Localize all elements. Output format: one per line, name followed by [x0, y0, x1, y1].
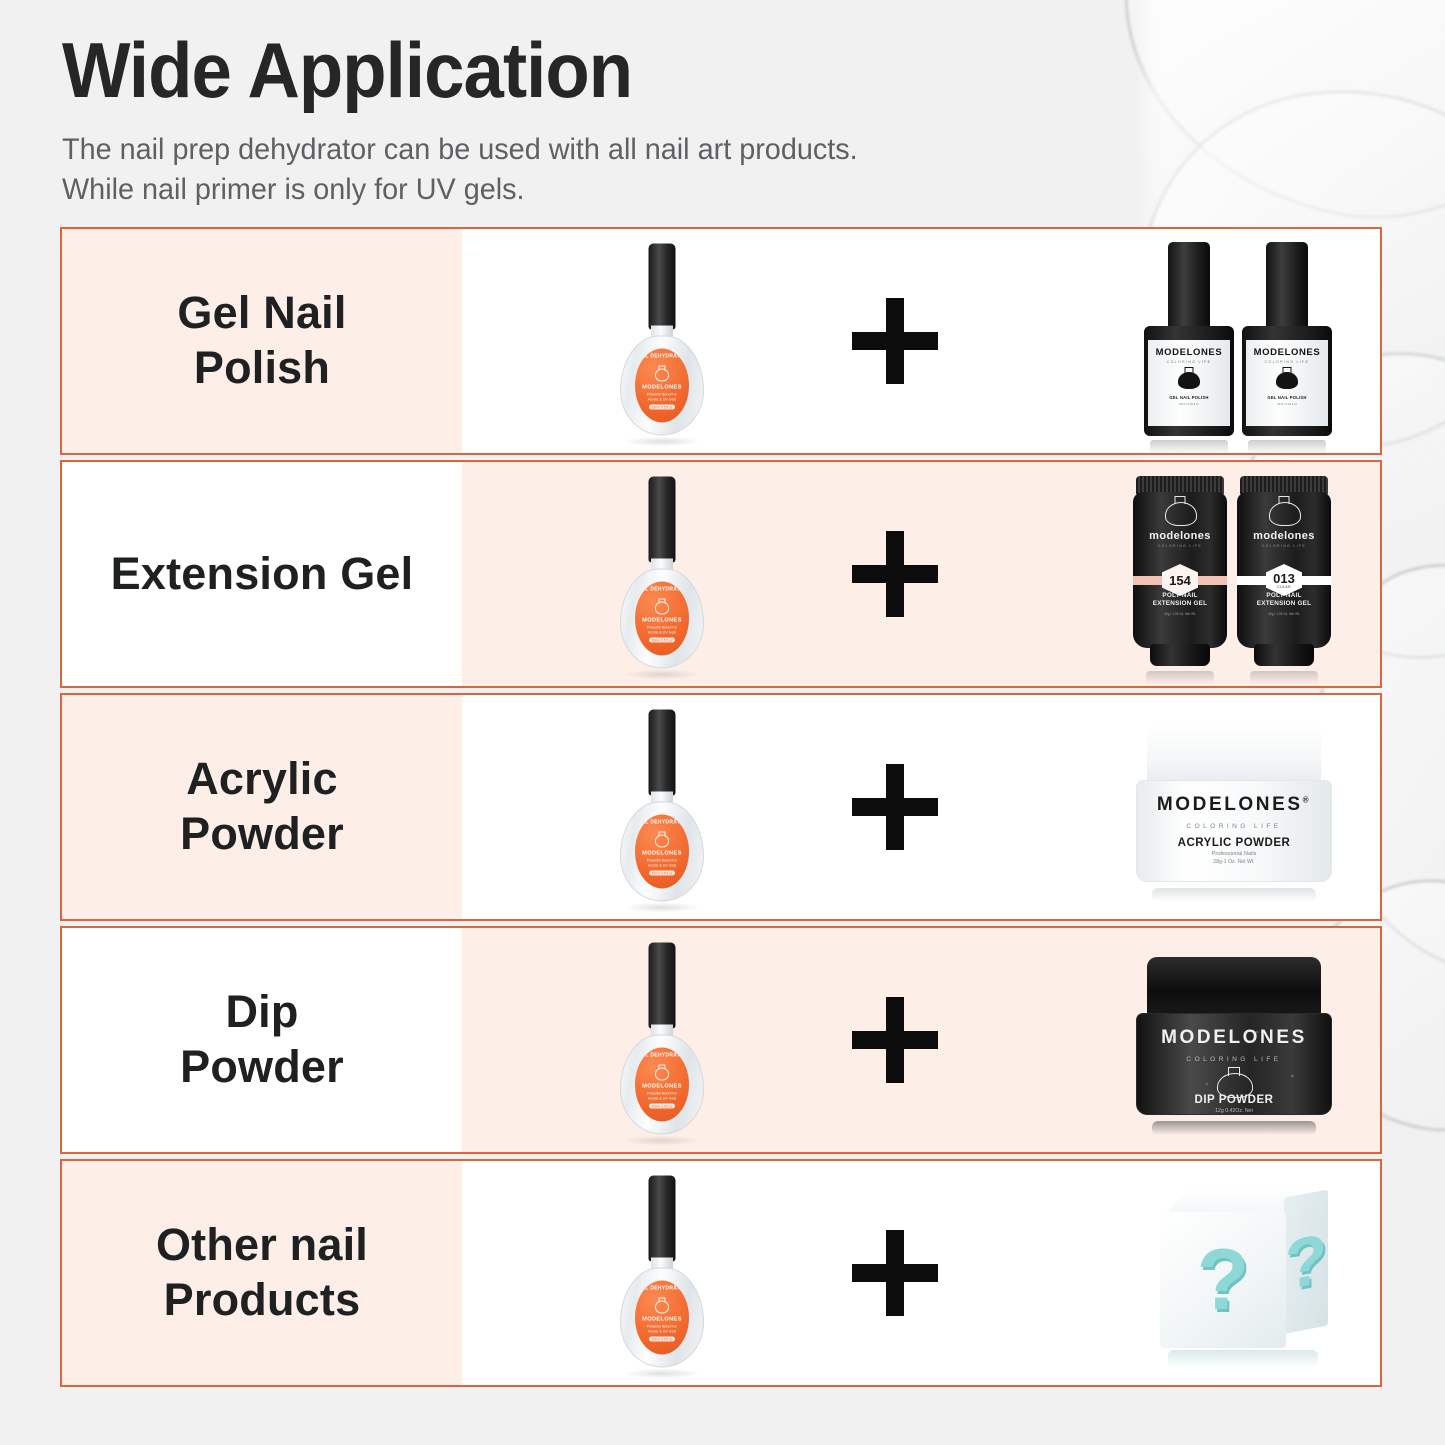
- bee-logo-icon: [655, 1300, 669, 1313]
- registered-mark: ®: [1303, 796, 1312, 805]
- bee-logo-icon: [655, 601, 669, 614]
- gel-polish-bottle: MODELONES COLORING LIFE GEL NAIL POLISH …: [1242, 242, 1332, 440]
- table-row: Other nail Products NAIL DEHYDRATOR MODE…: [60, 1159, 1382, 1387]
- gel-polish-bottle: MODELONES COLORING LIFE GEL NAIL POLISH …: [1144, 242, 1234, 440]
- bottle-label: NAIL DEHYDRATOR MODELONES Powerful Bond …: [635, 1048, 689, 1122]
- bottle-shadow: [624, 903, 700, 913]
- dip-powder-group: MODELONES COLORING LIFE DIP POWDER 12g 0…: [1136, 957, 1332, 1123]
- question-mark-front: ?: [1197, 1237, 1250, 1323]
- label-tagline: COLORING LIFE: [1265, 360, 1310, 364]
- badge-shade: CLEAR: [1277, 585, 1291, 589]
- tube-brand: modelones: [1236, 530, 1332, 542]
- table-row: Acrylic Powder NAIL DEHYDRATOR MODELONES…: [60, 693, 1382, 921]
- row-products-cell: NAIL DEHYDRATOR MODELONES Powerful Bond …: [462, 695, 1380, 919]
- page-title: Wide Application: [62, 28, 1085, 112]
- plus-icon: [852, 764, 938, 850]
- label-volume: 15ml / 0.5 fl.oz: [649, 1104, 676, 1109]
- label-subline: Powerful Bond ForAcrylic & UV Gels: [647, 1324, 677, 1334]
- label-volume: 15ml / 0.5 fl.oz: [649, 1337, 676, 1342]
- bottle-cap: [649, 477, 676, 563]
- jar-product-name: ACRYLIC POWDER: [1178, 837, 1291, 849]
- bottle-body: NAIL DEHYDRATOR MODELONES Powerful Bond …: [620, 1268, 704, 1368]
- row-label-cell: Dip Powder: [62, 928, 462, 1152]
- label-volume: 15ml / 0.5 fl.oz: [649, 405, 676, 410]
- table-row: Extension Gel NAIL DEHYDRATOR MODELONES …: [60, 460, 1382, 688]
- subtitle-line-1: The nail prep dehydrator can be used wit…: [62, 130, 1118, 170]
- nail-dehydrator-bottle: NAIL DEHYDRATOR MODELONES Powerful Bond …: [602, 710, 722, 905]
- table-row: Gel Nail Polish NAIL DEHYDRATOR MODELONE…: [60, 227, 1382, 455]
- header: Wide Application The nail prep dehydrato…: [62, 28, 1162, 210]
- label-volume: 15ml / 0.5 fl.oz: [649, 871, 676, 876]
- bee-logo-icon: [1165, 498, 1195, 524]
- plus-icon: [852, 1230, 938, 1316]
- question-mark-side: ?: [1285, 1223, 1328, 1301]
- label-arc-text: NAIL DEHYDRATOR: [635, 354, 689, 360]
- plus-icon: [852, 531, 938, 617]
- extension-gel-tube: modelones COLORING LIFE 013 CLEAR POLY N…: [1236, 476, 1332, 672]
- dip-powder-jar: MODELONES COLORING LIFE DIP POWDER 12g 0…: [1136, 957, 1332, 1123]
- cube-side-face: ?: [1284, 1189, 1328, 1334]
- bee-logo-icon: [1217, 1068, 1251, 1087]
- row-products-cell: NAIL DEHYDRATOR MODELONES Powerful Bond …: [462, 1161, 1380, 1385]
- application-table: Gel Nail Polish NAIL DEHYDRATOR MODELONE…: [60, 227, 1382, 1392]
- label-volume: 15ml / 0.5 fl.oz: [649, 638, 676, 643]
- row-products-cell: NAIL DEHYDRATOR MODELONES Powerful Bond …: [462, 462, 1380, 686]
- label-product-name: GEL NAIL POLISH: [1267, 395, 1306, 400]
- bottle-reflection: [1150, 440, 1228, 454]
- label-subline: Powerful Bond ForAcrylic & UV Gels: [647, 858, 677, 868]
- label-product-name: GEL NAIL POLISH: [1169, 395, 1208, 400]
- bee-logo-icon: [1178, 369, 1200, 389]
- badge-number: 154: [1169, 574, 1191, 587]
- plus-icon: [852, 298, 938, 384]
- row-label-line-1: Acrylic: [180, 752, 344, 807]
- bottle-cap: [1168, 242, 1210, 332]
- question-mark-cube-icon: ? ?: [1154, 1184, 1332, 1362]
- cube-front-face: ?: [1160, 1212, 1286, 1348]
- bottle-cap: [1266, 242, 1308, 332]
- bottle-shadow: [624, 670, 700, 680]
- bottle-label: NAIL DEHYDRATOR MODELONES Powerful Bond …: [635, 815, 689, 889]
- bottle-cap: [649, 943, 676, 1029]
- label-subline: Powerful Bond ForAcrylic & UV Gels: [647, 1091, 677, 1101]
- tube-fine-print: 30g / 1.05 Oz. Net Wt.: [1236, 612, 1332, 617]
- bottle-shadow: [624, 1136, 700, 1146]
- bee-logo-icon: [1269, 498, 1299, 524]
- label-arc-text: NAIL DEHYDRATOR: [635, 1053, 689, 1059]
- jar-brand: MODELONES: [1161, 1027, 1307, 1049]
- label-arc-text: NAIL DEHYDRATOR: [635, 587, 689, 593]
- table-row: Dip Powder NAIL DEHYDRATOR MODELONES Pow…: [60, 926, 1382, 1154]
- row-label-cell: Extension Gel: [62, 462, 462, 686]
- row-label-line-2: Powder: [180, 1040, 344, 1095]
- bee-logo-icon: [655, 1067, 669, 1080]
- label-brand: MODELONES: [642, 1083, 682, 1089]
- bottle-label: NAIL DEHYDRATOR MODELONES Powerful Bond …: [635, 349, 689, 423]
- bottle-label: NAIL DEHYDRATOR MODELONES Powerful Bond …: [635, 1281, 689, 1355]
- tube-tagline: COLORING LIFE: [1132, 544, 1228, 548]
- bottle-cap: [649, 244, 676, 330]
- nail-dehydrator-bottle: NAIL DEHYDRATOR MODELONES Powerful Bond …: [602, 1176, 722, 1371]
- row-label-line-1: Other nail: [156, 1218, 368, 1273]
- label-tagline: COLORING LIFE: [1167, 360, 1212, 364]
- row-label-line-1: Extension Gel: [111, 547, 414, 602]
- jar-tagline: COLORING LIFE: [1186, 823, 1281, 830]
- jar-base: MODELONES COLORING LIFE DIP POWDER 12g 0…: [1136, 1013, 1332, 1115]
- bottle-body: NAIL DEHYDRATOR MODELONES Powerful Bond …: [620, 802, 704, 902]
- extension-gel-group: modelones COLORING LIFE 154 POLY NAILEXT…: [1132, 476, 1332, 672]
- tube-cap-end: [1254, 644, 1314, 666]
- badge-number: 013: [1273, 572, 1295, 585]
- row-label: Gel Nail Polish: [177, 286, 346, 396]
- subtitle-line-2: While nail primer is only for UV gels.: [62, 170, 1118, 210]
- jar-base: MODELONES® COLORING LIFE ACRYLIC POWDER …: [1136, 780, 1332, 882]
- other-products-group: ? ?: [1154, 1184, 1332, 1362]
- tube-product-name: POLY NAILEXTENSION GEL: [1132, 592, 1228, 609]
- jar-lid: [1147, 957, 1321, 1019]
- jar-brand-text: MODELONES: [1157, 794, 1303, 815]
- tube-brand: modelones: [1132, 530, 1228, 542]
- bottle-body: NAIL DEHYDRATOR MODELONES Powerful Bond …: [620, 569, 704, 669]
- label-arc-text: NAIL DEHYDRATOR: [635, 1286, 689, 1292]
- row-label-cell: Other nail Products: [62, 1161, 462, 1385]
- label-brand: MODELONES: [1254, 347, 1321, 358]
- bee-logo-icon: [655, 368, 669, 381]
- tube-reflection: [1146, 671, 1214, 684]
- label-subline: Powerful Bond ForAcrylic & UV Gels: [647, 625, 677, 635]
- row-label: Other nail Products: [156, 1218, 368, 1328]
- tube-cap-end: [1150, 644, 1210, 666]
- bee-logo-icon: [1276, 369, 1298, 389]
- label-arc-text: NAIL DEHYDRATOR: [635, 820, 689, 826]
- bottle-cap: [649, 1176, 676, 1262]
- jar-sub-name: Professional Nails: [1212, 851, 1257, 857]
- gel-polish-group: MODELONES COLORING LIFE GEL NAIL POLISH …: [1144, 242, 1332, 440]
- row-products-cell: NAIL DEHYDRATOR MODELONES Powerful Bond …: [462, 928, 1380, 1152]
- label-brand: MODELONES: [1156, 347, 1223, 358]
- row-label-line-2: Powder: [180, 807, 344, 862]
- label-brand: MODELONES: [642, 1316, 682, 1322]
- row-label-line-2: Products: [156, 1273, 368, 1328]
- row-label: Dip Powder: [180, 985, 344, 1095]
- jar-net-weight: 28g-1 Oz. Net Wt.: [1213, 859, 1255, 865]
- jar-lid: [1147, 724, 1321, 786]
- bottle-reflection: [1248, 440, 1326, 454]
- tube-fine-print: 30g / 1.05 Oz. Net Wt.: [1132, 612, 1228, 617]
- bottle-label: NAIL DEHYDRATOR MODELONES Powerful Bond …: [635, 582, 689, 656]
- nail-dehydrator-bottle: NAIL DEHYDRATOR MODELONES Powerful Bond …: [602, 477, 722, 672]
- jar-reflection: [1152, 1121, 1316, 1135]
- jar-net-weight: 12g 0.42Oz. Net: [1215, 1108, 1253, 1114]
- label-brand: MODELONES: [642, 850, 682, 856]
- bottle-label: MODELONES COLORING LIFE GEL NAIL POLISH …: [1246, 340, 1328, 426]
- bottle-body: NAIL DEHYDRATOR MODELONES Powerful Bond …: [620, 1035, 704, 1135]
- acrylic-powder-jar: MODELONES® COLORING LIFE ACRYLIC POWDER …: [1136, 724, 1332, 890]
- jar-tagline: COLORING LIFE: [1186, 1056, 1281, 1063]
- tube-tagline: COLORING LIFE: [1236, 544, 1332, 548]
- row-label: Acrylic Powder: [180, 752, 344, 862]
- bottle-shadow: [624, 437, 700, 447]
- label-subline: Powerful Bond ForAcrylic & UV Gels: [647, 392, 677, 402]
- bottle-shadow: [624, 1369, 700, 1379]
- row-label-cell: Acrylic Powder: [62, 695, 462, 919]
- row-label-line-1: Dip: [180, 985, 344, 1040]
- nail-dehydrator-bottle: NAIL DEHYDRATOR MODELONES Powerful Bond …: [602, 244, 722, 439]
- subtitle: The nail prep dehydrator can be used wit…: [62, 130, 1118, 210]
- bottle-body: NAIL DEHYDRATOR MODELONES Powerful Bond …: [620, 336, 704, 436]
- bottle-body: MODELONES COLORING LIFE GEL NAIL POLISH …: [1242, 326, 1332, 436]
- nail-dehydrator-bottle: NAIL DEHYDRATOR MODELONES Powerful Bond …: [602, 943, 722, 1138]
- tube-reflection: [1250, 671, 1318, 684]
- cube-reflection: [1168, 1350, 1318, 1368]
- acrylic-powder-group: MODELONES® COLORING LIFE ACRYLIC POWDER …: [1136, 724, 1332, 890]
- label-brand: MODELONES: [642, 617, 682, 623]
- plus-icon: [852, 997, 938, 1083]
- jar-reflection: [1152, 888, 1316, 902]
- row-label-line-2: Polish: [177, 341, 346, 396]
- row-label-cell: Gel Nail Polish: [62, 229, 462, 453]
- row-label: Extension Gel: [111, 547, 414, 602]
- label-fine-print: 10ml / 0.34 fl.oz: [1179, 402, 1199, 406]
- bee-logo-icon: [655, 834, 669, 847]
- jar-brand: MODELONES®: [1157, 794, 1311, 816]
- label-fine-print: 10ml / 0.34 fl.oz: [1277, 402, 1297, 406]
- tube-product-name: POLY NAILEXTENSION GEL: [1236, 592, 1332, 609]
- row-products-cell: NAIL DEHYDRATOR MODELONES Powerful Bond …: [462, 229, 1380, 453]
- label-brand: MODELONES: [642, 384, 682, 390]
- bottle-label: MODELONES COLORING LIFE GEL NAIL POLISH …: [1148, 340, 1230, 426]
- bottle-body: MODELONES COLORING LIFE GEL NAIL POLISH …: [1144, 326, 1234, 436]
- row-label-line-1: Gel Nail: [177, 286, 346, 341]
- extension-gel-tube: modelones COLORING LIFE 154 POLY NAILEXT…: [1132, 476, 1228, 672]
- bottle-cap: [649, 710, 676, 796]
